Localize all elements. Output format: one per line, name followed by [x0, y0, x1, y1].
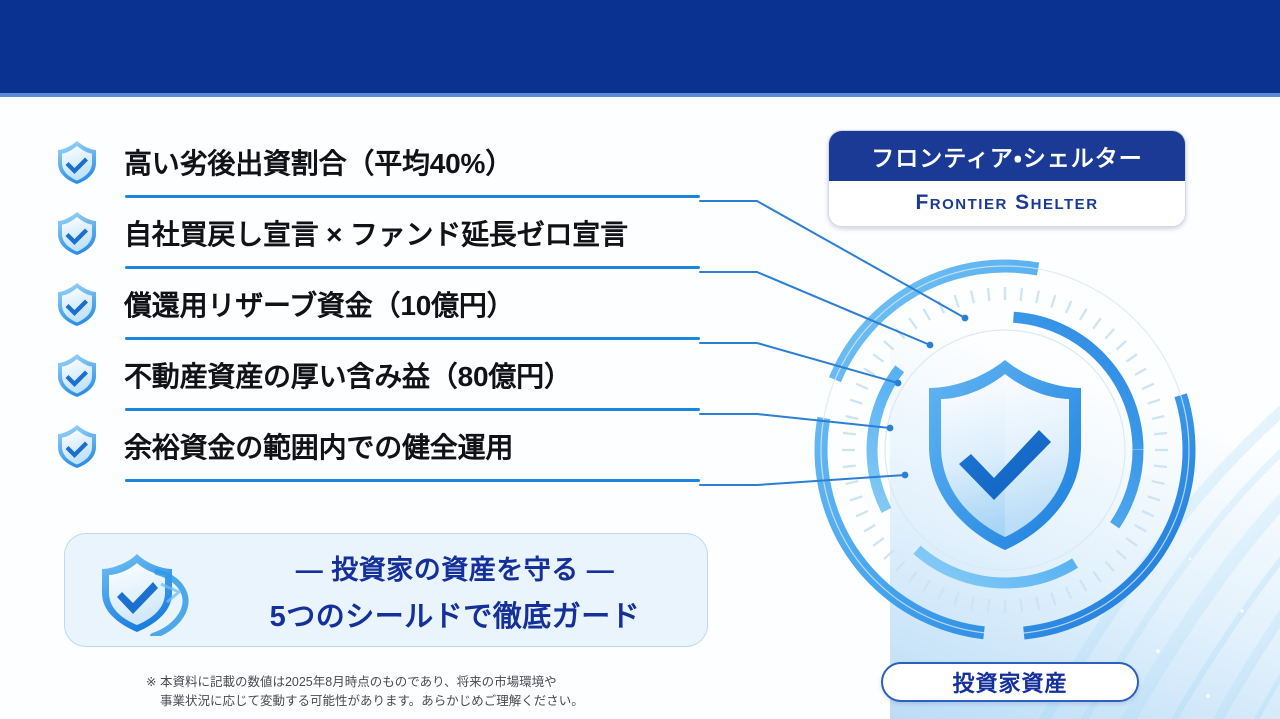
feature-item-5: 余裕資金の範囲内での健全運用: [0, 416, 760, 487]
asset-badge-label: 投資家資産: [952, 666, 1067, 698]
feature-underline: [125, 195, 700, 198]
shield-check-icon: [56, 352, 98, 398]
feature-underline: [125, 337, 700, 340]
feature-label: 高い劣後出資割合（平均40%）: [124, 142, 513, 182]
brand-badge: フロンティア・シェルター Frontier Shelter: [828, 130, 1186, 227]
shield-check-icon: [56, 281, 98, 327]
shield-swoosh-icon: [87, 550, 207, 636]
feature-label: 余裕資金の範囲内での健全運用: [124, 426, 513, 466]
feature-underline: [125, 479, 700, 482]
feature-item-3: 償還用リザーブ資金（10億円）: [0, 274, 760, 345]
hero-shield-ring-graphic: [795, 240, 1215, 660]
shield-check-icon: [56, 423, 98, 469]
brand-name-jp: フロンティア・シェルター: [829, 131, 1185, 181]
header-accent-line: [0, 93, 1280, 97]
footnote: ※ 本資料に記載の数値は2025年8月時点のものであり、将来の市場環境や 事業状…: [146, 673, 584, 712]
feature-label: 償還用リザーブ資金（10億円）: [124, 284, 514, 324]
brand-name-en: Frontier Shelter: [829, 181, 1185, 225]
shield-check-icon: [56, 210, 98, 256]
shield-check-icon: [56, 139, 98, 185]
feature-label: 不動産資産の厚い含み益（80億円）: [124, 355, 572, 395]
feature-underline: [125, 408, 700, 411]
asset-badge: 投資家資産: [881, 662, 1139, 702]
footnote-line-1: ※ 本資料に記載の数値は2025年8月時点のものであり、将来の市場環境や: [146, 673, 584, 692]
summary-callout-box: ― 投資家の資産を守る ― 5つのシールドで徹底ガード: [64, 533, 708, 647]
feature-item-2: 自社買戻し宣言 × ファンド延長ゼロ宣言: [0, 203, 760, 274]
slide-root: 「投資家プロテクトルール」の全体像: [0, 0, 1280, 719]
header-bar: [0, 0, 1280, 93]
feature-underline: [125, 266, 700, 269]
callout-line-2: 5つのシールドで徹底ガード: [270, 593, 641, 635]
footnote-line-2: 事業状況に応じて変動する可能性があります。あらかじめご理解ください。: [146, 692, 584, 711]
feature-item-1: 高い劣後出資割合（平均40%）: [0, 132, 760, 203]
feature-label: 自社買戻し宣言 × ファンド延長ゼロ宣言: [124, 213, 628, 253]
feature-list: 高い劣後出資割合（平均40%） 自社買戻し宣言 × ファンド延長ゼロ宣言: [0, 132, 760, 487]
callout-line-1: ― 投資家の資産を守る ―: [296, 548, 615, 587]
feature-item-4: 不動産資産の厚い含み益（80億円）: [0, 345, 760, 416]
